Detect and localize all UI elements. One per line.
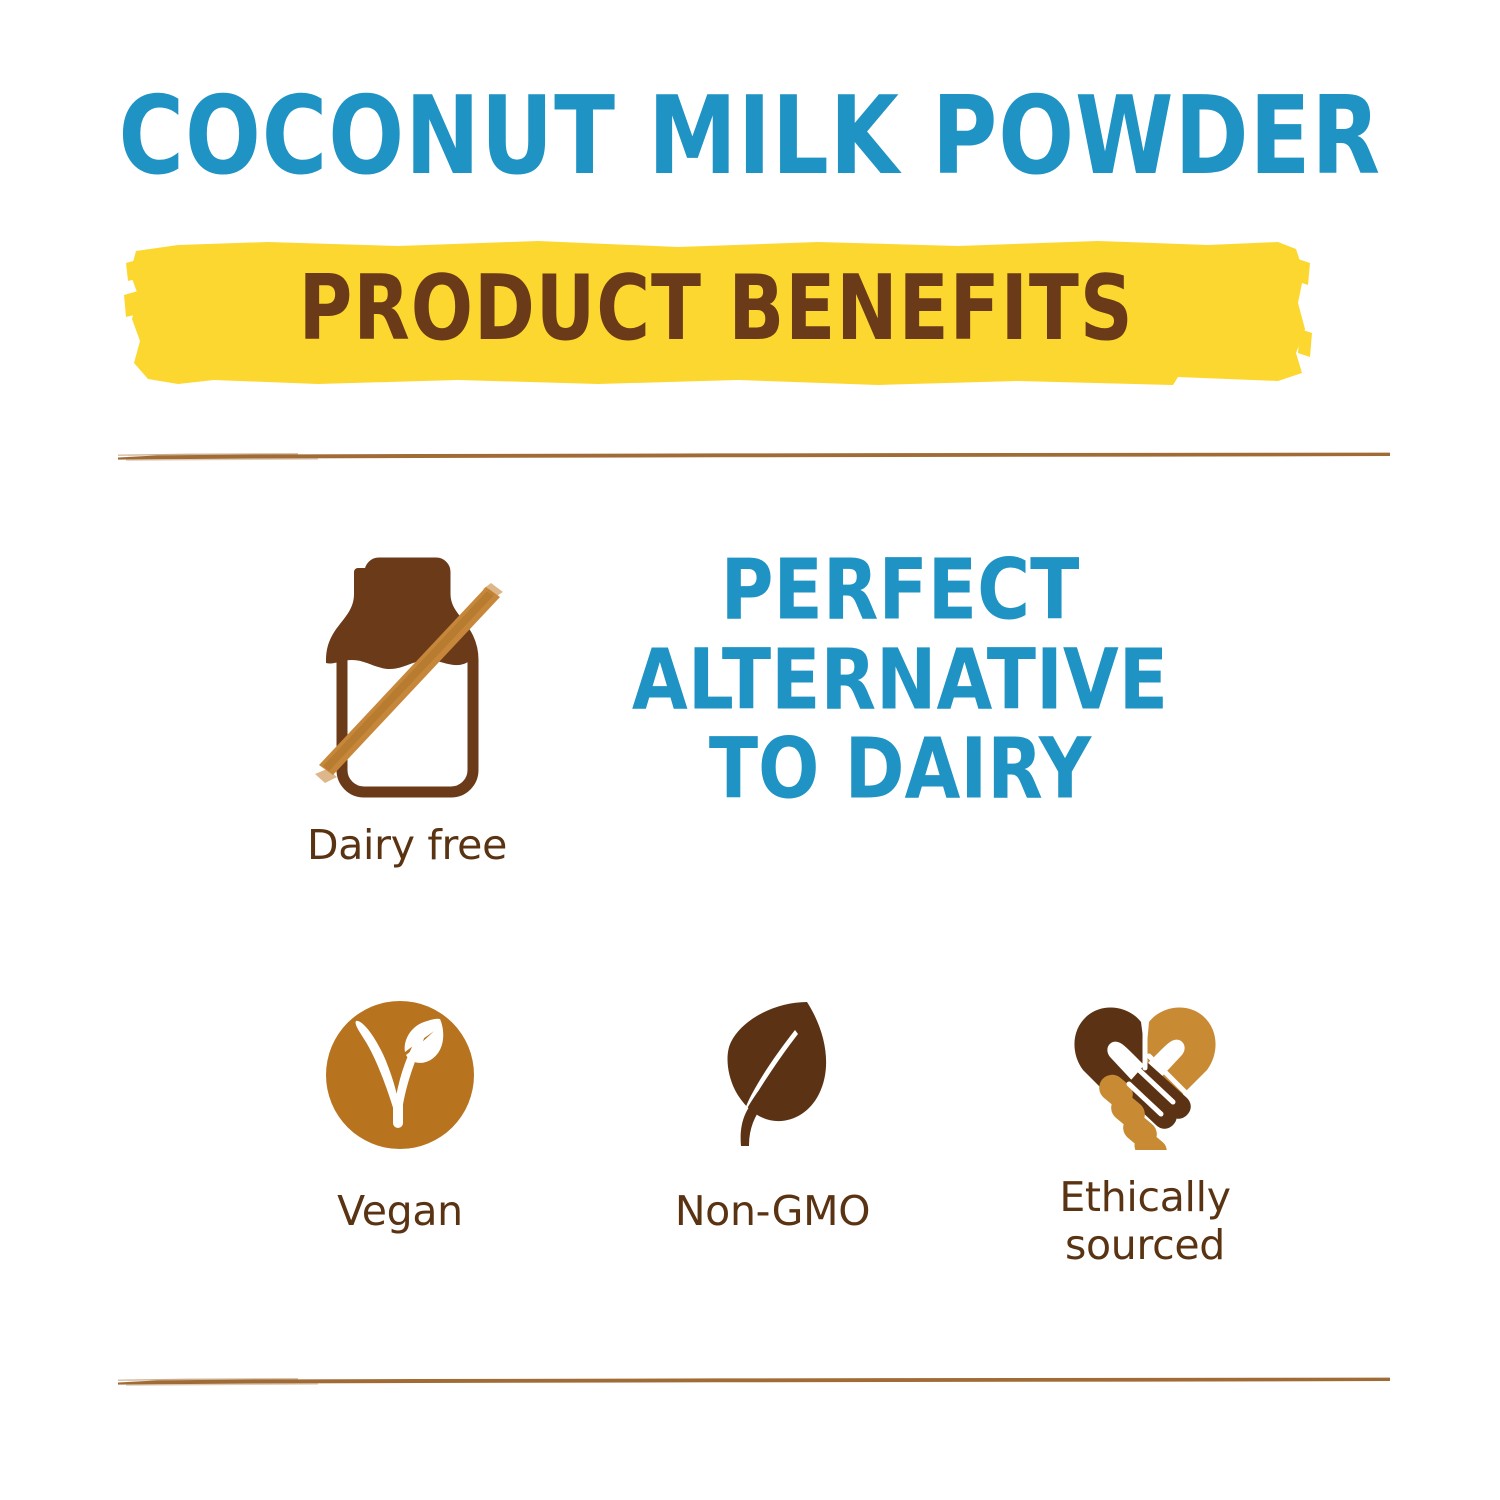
ethically-sourced-label: Ethically sourced <box>995 1173 1295 1270</box>
non-gmo-label-line1: Non-GMO <box>675 1187 870 1235</box>
dairy-free-label: Dairy free <box>282 823 532 868</box>
ethically-sourced-label-line1: Ethically <box>1059 1173 1230 1221</box>
dairy-free-block: Dairy free <box>282 553 532 868</box>
vegan-label: Vegan <box>250 1187 550 1235</box>
handshake-heart-icon <box>1061 1000 1229 1150</box>
ethically-sourced-label-line2: sourced <box>995 1221 1295 1269</box>
leaf-icon-container <box>623 995 923 1155</box>
statement-block: PERFECT ALTERNATIVE TO DAIRY <box>590 545 1210 814</box>
divider-brush-line <box>118 450 1390 462</box>
benefit-non-gmo: Non-GMO <box>623 995 923 1235</box>
benefit-ethically-sourced: Ethically sourced <box>995 995 1295 1270</box>
benefits-row: Vegan Non-GMO <box>250 995 1295 1270</box>
product-benefits-banner: PRODUCT BENEFITS <box>118 233 1314 388</box>
leaf-icon <box>703 996 843 1154</box>
product-title: COCONUT MILK POWDER <box>119 82 1382 190</box>
vegan-icon-container <box>250 995 550 1155</box>
divider-top <box>118 450 1390 462</box>
vegan-leaf-circle-icon <box>324 999 476 1151</box>
banner-label: PRODUCT BENEFITS <box>299 263 1134 353</box>
banner-text-container: PRODUCT BENEFITS <box>118 233 1314 388</box>
divider-brush-line <box>118 1375 1390 1387</box>
statement-line-1: PERFECT <box>606 541 1195 640</box>
vegan-label-line1: Vegan <box>337 1187 463 1235</box>
divider-bottom <box>118 1375 1390 1387</box>
hero-section: Dairy free PERFECT ALTERNATIVE TO DAIRY <box>0 545 1500 885</box>
non-gmo-label: Non-GMO <box>623 1187 923 1235</box>
statement-line-2: ALTERNATIVE <box>606 630 1195 729</box>
benefit-vegan: Vegan <box>250 995 550 1235</box>
dairy-free-bottle-icon <box>305 553 510 801</box>
statement-line-3: TO DAIRY <box>606 720 1195 819</box>
headline-container: COCONUT MILK POWDER <box>0 88 1500 184</box>
handshake-heart-icon-container <box>995 995 1295 1155</box>
infographic-page: COCONUT MILK POWDER PRODUCT BENEFITS <box>0 0 1500 1500</box>
